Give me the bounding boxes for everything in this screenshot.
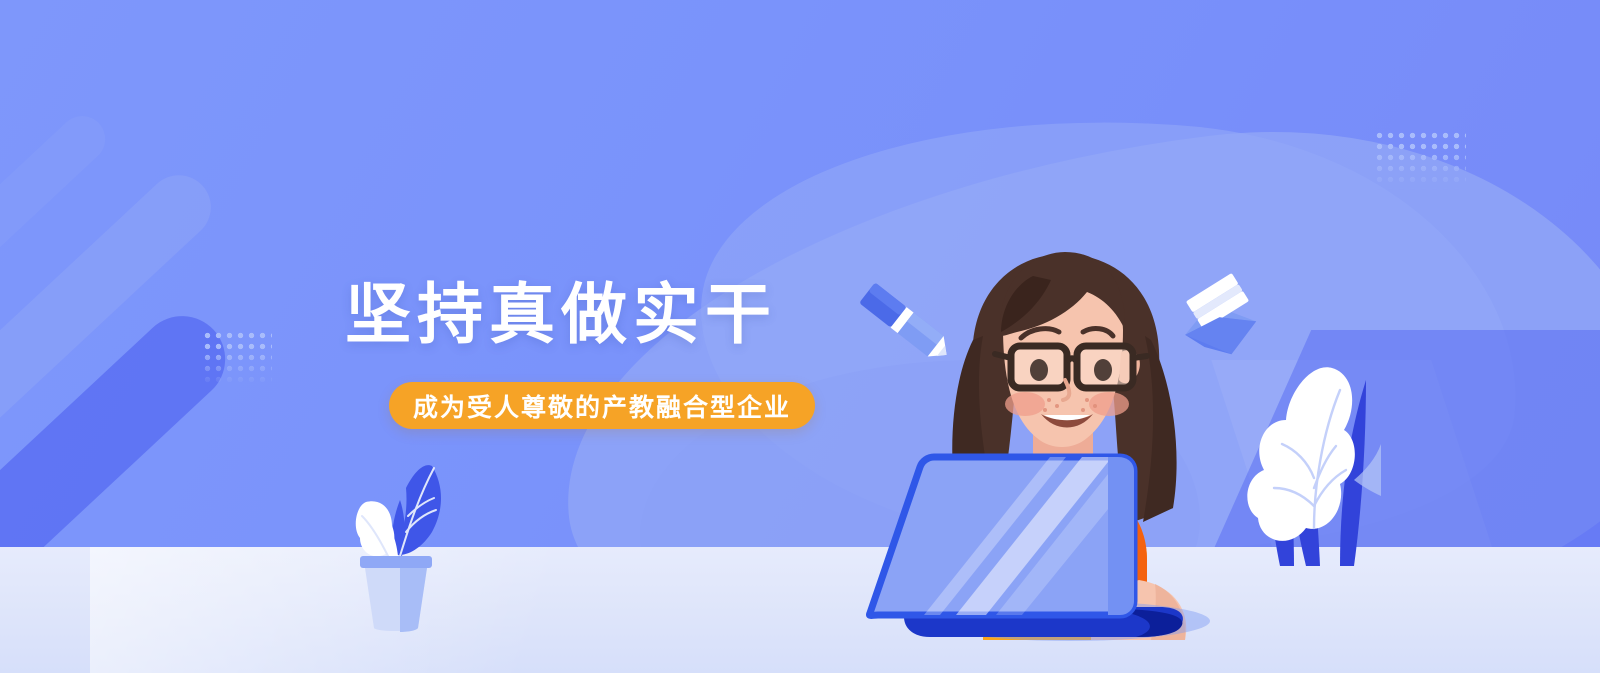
floor-sheen (90, 547, 730, 673)
leaf-cluster-icon (1236, 328, 1381, 566)
page-title: 坚持真做实干 (345, 281, 777, 350)
tagline-badge: 成为受人尊敬的产教融合型企业 (389, 382, 815, 429)
dot-grid-icon (202, 330, 272, 386)
background-wedge-right-light (1211, 360, 1528, 660)
background-blob-secondary (683, 85, 1537, 585)
potted-plant-icon (348, 448, 458, 633)
laptop-icon (860, 445, 1220, 640)
floor-surface (0, 547, 1600, 673)
dot-grid-icon (1374, 130, 1466, 190)
diagonal-bar-light (0, 162, 224, 502)
envelope-icon (1182, 277, 1262, 359)
diagonal-bar-faint (0, 107, 115, 400)
background-wedge-right-dark (1169, 330, 1600, 650)
woman-with-laptop-illustration (855, 240, 1255, 640)
pencil-icon (852, 288, 962, 368)
diagonal-bar-dark (0, 298, 243, 647)
background-blob-primary (532, 85, 1600, 673)
hero-banner: 坚持真做实干 成为受人尊敬的产教融合型企业 (0, 0, 1600, 673)
